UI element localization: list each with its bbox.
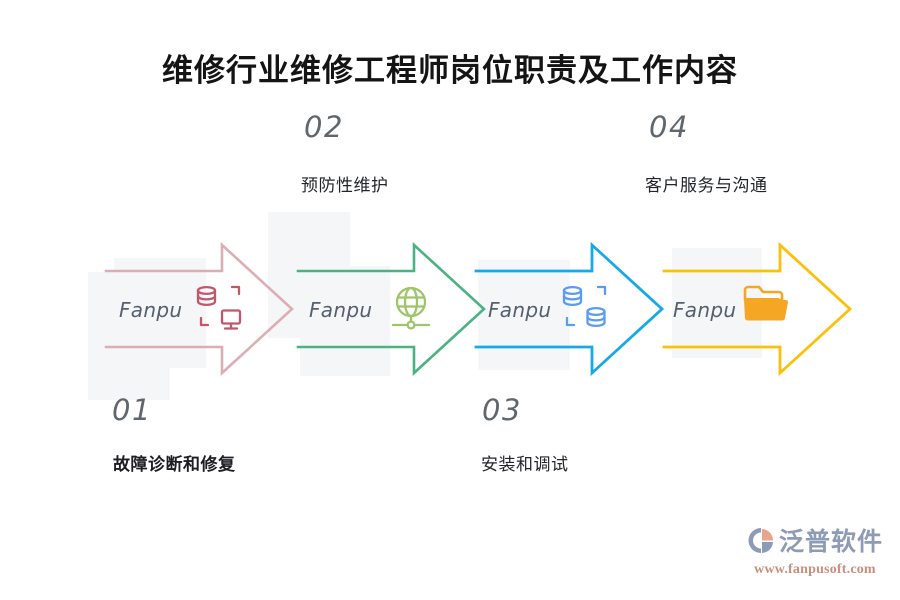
step-caption-3: 安装和调试 — [481, 450, 569, 475]
watermark-brand-cn: 泛普软件 — [779, 530, 883, 555]
watermark-logo: 泛普软件 www.fanpusoft.com — [740, 526, 890, 592]
dual-database-scan-icon — [560, 283, 612, 335]
globe-network-icon — [385, 283, 437, 335]
step-caption-2: 预防性维护 — [301, 171, 389, 196]
brand-label-4: Fanpu — [673, 298, 736, 322]
infographic-canvas: 维修行业维修工程师岗位职责及工作内容 Fanpu 01 故障诊断和修复 — [0, 0, 900, 600]
database-monitor-scan-icon — [194, 283, 246, 335]
brand-label-2: Fanpu — [309, 298, 372, 322]
watermark-url: www.fanpusoft.com — [740, 562, 890, 578]
page-title: 维修行业维修工程师岗位职责及工作内容 — [0, 45, 900, 90]
brand-label-3: Fanpu — [488, 298, 551, 322]
brand-label-1: Fanpu — [119, 298, 182, 322]
step-caption-1: 故障诊断和修复 — [113, 450, 236, 475]
step-number-3: 03 — [482, 393, 522, 427]
fanpu-logo-mark — [746, 526, 776, 559]
open-folder-icon — [741, 278, 793, 330]
step-caption-4: 客户服务与沟通 — [645, 171, 768, 196]
step-number-2: 02 — [304, 110, 344, 144]
step-number-4: 04 — [649, 110, 689, 144]
step-number-1: 01 — [112, 393, 152, 427]
